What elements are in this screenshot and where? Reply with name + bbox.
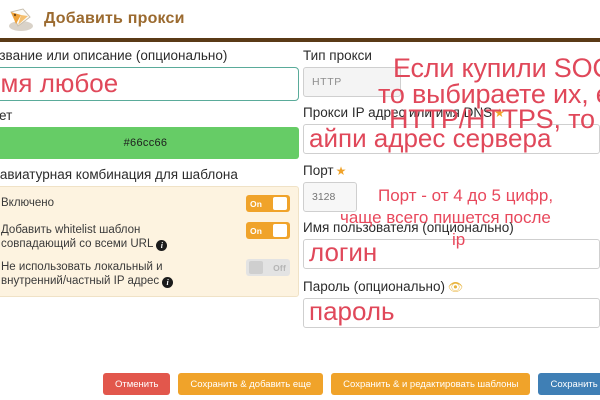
color-swatch-value: #66cc66 xyxy=(124,137,168,149)
proxy-ip-input[interactable] xyxy=(303,124,600,154)
name-field-label: азвание или описание (опционально) xyxy=(0,48,299,64)
username-input[interactable] xyxy=(303,239,600,269)
page-title: Добавить прокси xyxy=(44,10,185,28)
cancel-button[interactable]: Отменить xyxy=(103,373,170,395)
toggle-label-whitelist: Добавить whitelist шаблон совпадающий со… xyxy=(1,221,219,251)
pattern-field-label: лавиатурная комбинация для шаблона xyxy=(0,167,299,183)
proxy-ip-label-text: Прокси IP адрес или имя DNS xyxy=(303,105,492,120)
toggle-label-enabled: Включено xyxy=(1,194,60,210)
proxy-type-select[interactable] xyxy=(303,67,401,97)
toggle-label-no-local-ip-text: Не использовать локальный и внутренний/ч… xyxy=(1,261,163,287)
toggle-state-whitelist: On xyxy=(246,226,266,236)
proxy-form: азвание или описание (опционально) имя л… xyxy=(0,42,600,328)
password-input[interactable] xyxy=(303,298,600,328)
required-star-icon: ★ xyxy=(336,164,347,178)
toggle-row-whitelist: Добавить whitelist шаблон совпадающий со… xyxy=(1,221,290,251)
window-header: Добавить прокси xyxy=(0,0,600,38)
toggle-knob xyxy=(249,261,263,274)
toggle-label-whitelist-text: Добавить whitelist шаблон совпадающий со… xyxy=(1,224,153,250)
port-label-text: Порт xyxy=(303,163,334,178)
toggle-state-no-local-ip: Off xyxy=(269,263,290,273)
name-input[interactable] xyxy=(0,67,299,101)
proxy-fox-icon xyxy=(6,4,36,34)
toggle-row-enabled: Включено On xyxy=(1,194,290,214)
toggle-row-no-local-ip: Не использовать локальный и внутренний/ч… xyxy=(1,258,290,288)
save-button[interactable]: Сохранить xyxy=(538,373,600,395)
left-column: азвание или описание (опционально) имя л… xyxy=(0,48,299,328)
required-star-icon: ★ xyxy=(494,106,505,120)
toggle-switch-whitelist[interactable]: On xyxy=(246,222,290,239)
color-swatch[interactable]: #66cc66 xyxy=(0,127,299,159)
toggle-knob xyxy=(273,224,287,237)
toggle-switch-no-local-ip[interactable]: Off xyxy=(246,259,290,276)
username-label: Имя пользователя (опционально) xyxy=(303,220,600,236)
eye-icon[interactable]: 👁 xyxy=(448,280,463,294)
right-column: Тип прокси Прокси IP адрес или имя DNS★ … xyxy=(299,48,600,328)
toggle-knob xyxy=(273,197,287,210)
info-icon[interactable]: i xyxy=(162,277,173,288)
info-icon[interactable]: i xyxy=(156,240,167,251)
toggle-switch-enabled[interactable]: On xyxy=(246,195,290,212)
port-input[interactable] xyxy=(303,182,357,212)
color-field-label: вет xyxy=(0,108,299,124)
toggle-state-enabled: On xyxy=(246,199,266,209)
footer-button-bar: Отменить Сохранить & добавить еще Сохран… xyxy=(0,368,600,400)
port-label: Порт★ xyxy=(303,163,600,179)
options-panel: Включено On Добавить whitelist шаблон со… xyxy=(0,186,299,297)
proxy-ip-label: Прокси IP адрес или имя DNS★ xyxy=(303,105,600,121)
password-label: Пароль (опционально)👁 xyxy=(303,279,600,295)
password-label-text: Пароль (опционально) xyxy=(303,279,445,294)
save-and-add-another-button[interactable]: Сохранить & добавить еще xyxy=(178,373,323,395)
toggle-label-no-local-ip: Не использовать локальный и внутренний/ч… xyxy=(1,258,219,288)
proxy-type-label: Тип прокси xyxy=(303,48,600,64)
save-and-edit-patterns-button[interactable]: Сохранить & и редактировать шаблоны xyxy=(331,373,530,395)
